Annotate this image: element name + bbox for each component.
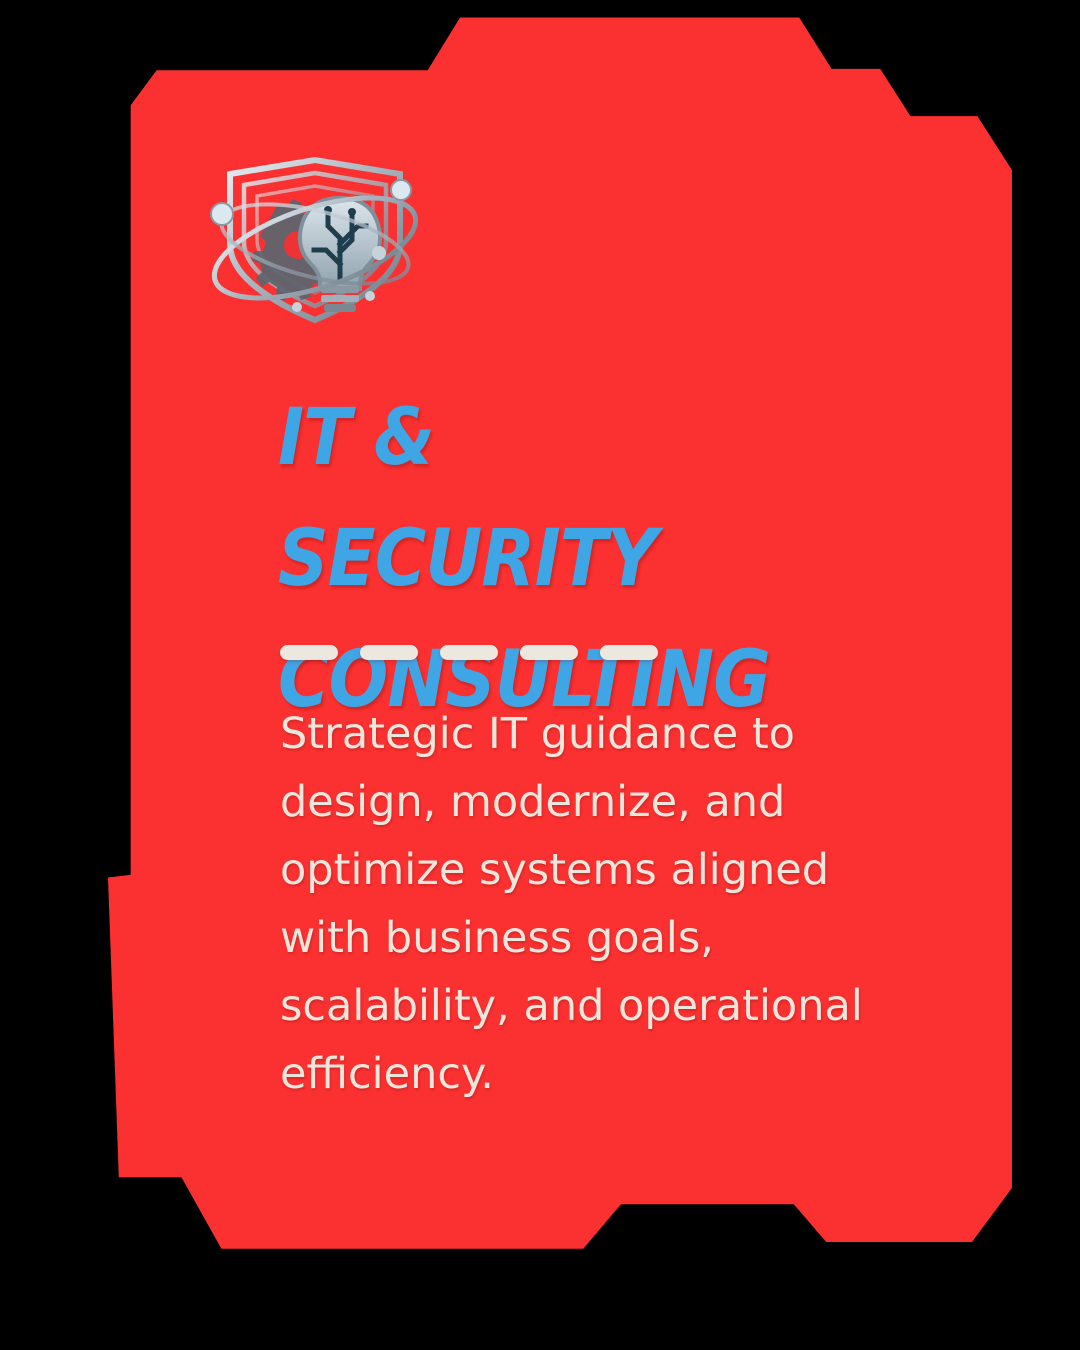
dashed-divider bbox=[280, 645, 658, 660]
card-content: IT & SECURITY CONSULTING Strategic IT gu… bbox=[278, 0, 898, 1350]
bulb-base-icon bbox=[321, 286, 359, 312]
poster-canvas: IT & SECURITY CONSULTING Strategic IT gu… bbox=[0, 0, 1080, 1350]
divider-dash bbox=[600, 645, 658, 660]
shield-lightbulb-logo bbox=[200, 152, 430, 334]
divider-dash bbox=[360, 645, 418, 660]
card-title: IT & SECURITY CONSULTING bbox=[278, 378, 836, 741]
divider-dash bbox=[280, 645, 338, 660]
divider-dash bbox=[520, 645, 578, 660]
divider-dash bbox=[440, 645, 498, 660]
card-description: Strategic IT guidance to design, moderni… bbox=[280, 700, 890, 1108]
